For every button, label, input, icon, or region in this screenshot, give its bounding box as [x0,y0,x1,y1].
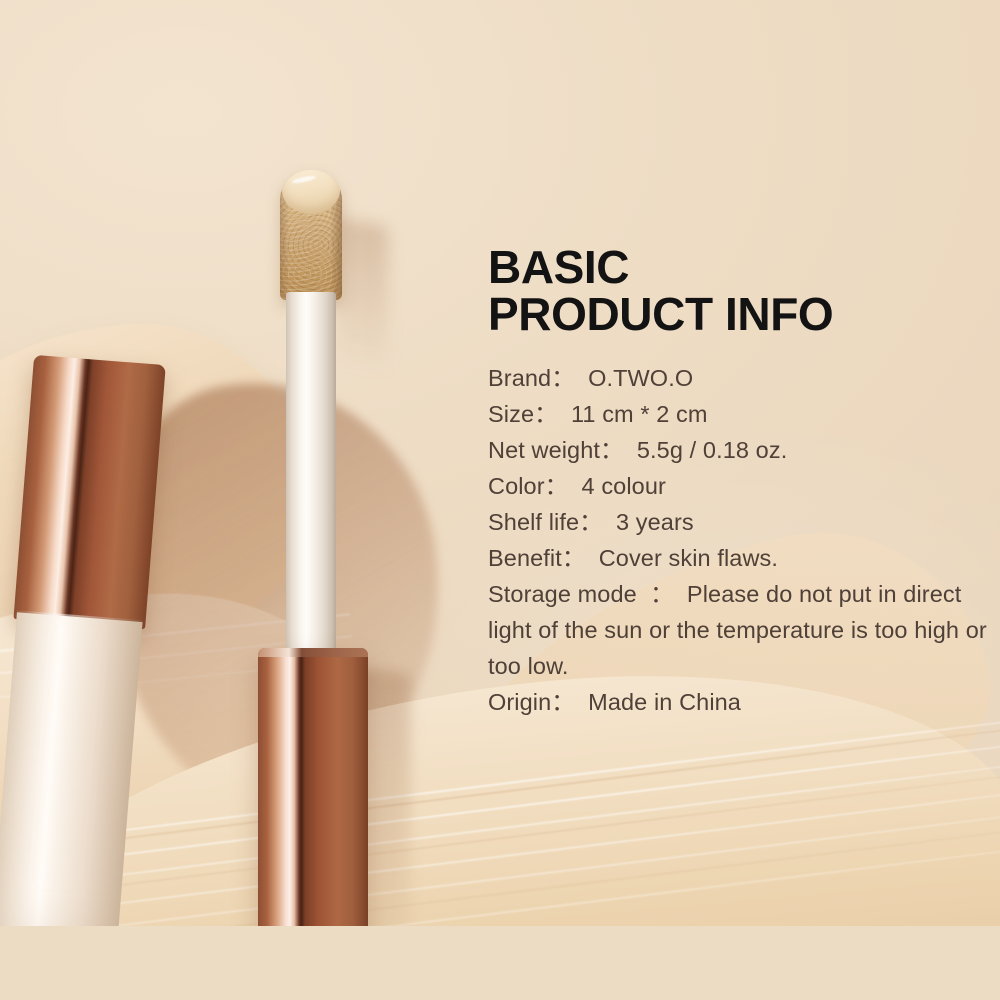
spec-row-brand: Brand： O.TWO.O [488,360,988,396]
wand-cap-ring [258,648,368,657]
headline-line-2: PRODUCT INFO [488,291,988,338]
spec-row-net-weight: Net weight： 5.5g / 0.18 oz. [488,432,988,468]
open-applicator-wand [252,170,372,810]
product-photograph: O.TWO.O BASIC [0,0,1000,926]
headline-line-1: BASIC [488,241,629,293]
product-info-text-block: BASIC PRODUCT INFO Brand： O.TWO.O Size： … [488,244,988,720]
wand-cap-rose-gold [258,648,368,926]
wand-stem [286,292,336,654]
product-info-banner: O.TWO.O BASIC [0,0,1000,1000]
page-title: BASIC PRODUCT INFO [488,244,988,338]
spec-row-color: Color： 4 colour [488,468,988,504]
photo-bottom-band [0,926,1000,1000]
spec-row-origin: Origin： Made in China [488,684,988,720]
spec-row-storage-mode: Storage mode ： Please do not put in dire… [488,576,988,684]
tube-body: O.TWO.O [0,612,143,926]
tube-cap-rose-gold [13,355,165,630]
wand-tip-shadow [336,217,388,376]
applicator-sponge-tip [280,170,342,300]
spec-list: Brand： O.TWO.O Size： 11 cm * 2 cm Net we… [488,360,988,720]
spec-row-size: Size： 11 cm * 2 cm [488,396,988,432]
spec-row-benefit: Benefit： Cover skin flaws. [488,540,988,576]
spec-row-shelf-life: Shelf life： 3 years [488,504,988,540]
